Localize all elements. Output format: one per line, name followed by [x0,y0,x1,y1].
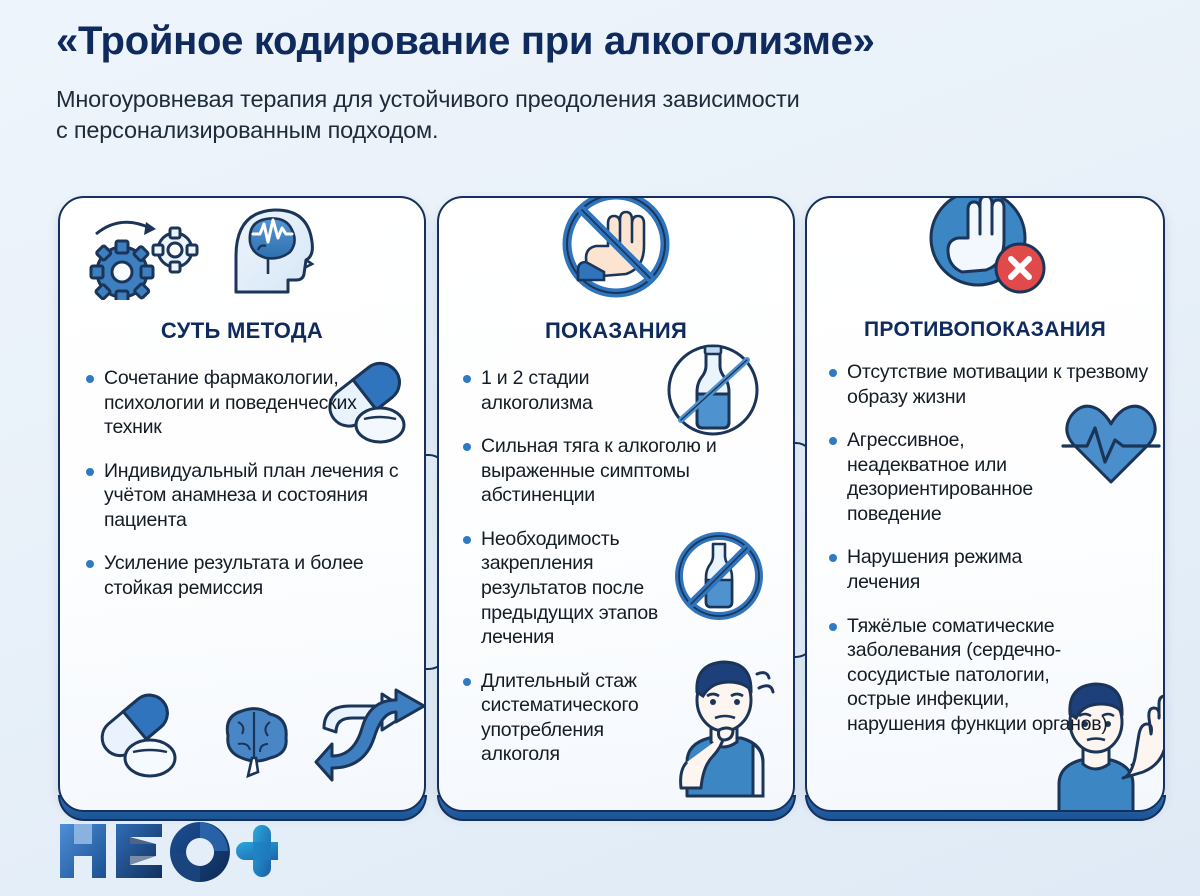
cards-deck: СУТЬ МЕТОДА Сочетание фармакологии, псих… [0,196,1200,820]
list-item: Отсутствие мотивации к трезвому образу ж… [827,360,1149,409]
card-3-bullet-list: Отсутствие мотивации к трезвому образу ж… [807,360,1163,736]
list-item: Агрессивное, неадекватное или дезориенти… [827,428,1065,526]
logo-mark [58,820,278,882]
shuffle-arrows-icon [310,686,424,786]
hand-stop-cross-icon [920,198,1050,302]
list-item: Сочетание фармакологии, психологии и пов… [84,366,410,440]
card-1-icon-row [60,198,424,316]
gears-icon [76,204,216,300]
page-subtitle: Многоуровневая терапия для устойчивого п… [56,84,1156,146]
card-2-icon-row [439,198,793,316]
card-3-icon-row [807,198,1163,316]
list-item: Тяжёлые соматические заболевания (сердеч… [827,614,1110,737]
neo-plus-logo[interactable]: НЕО+ [58,820,278,882]
card-2-title: ПОКАЗАНИЯ [439,318,793,344]
pills-icon [88,688,196,784]
card-1-bullet-list: Сочетание фармакологии, психологии и пов… [60,366,424,601]
no-hand-stop-icon [556,198,676,304]
list-item: Необходимость закрепления результатов по… [461,527,684,650]
list-item: Нарушения режима лечения [827,545,1052,594]
list-item: Длительный стаж систематического употреб… [461,669,684,767]
card-1-title: СУТЬ МЕТОДА [60,318,424,344]
list-item: 1 и 2 стадии алкоголизма [461,366,696,415]
card-contraindications[interactable]: ПРОТИВОПОКАЗАНИЯ Отсутствие мотивации к … [805,196,1165,812]
card-2-bullet-list: 1 и 2 стадии алкоголизма Сильная тяга к … [439,366,793,767]
brain-head-icon [208,198,340,306]
subtitle-line-2: с персонализированным подходом. [56,115,1156,146]
page-header: «Тройное кодирование при алкоголизме» Мн… [56,18,1156,146]
card-method-essence[interactable]: СУТЬ МЕТОДА Сочетание фармакологии, псих… [58,196,426,812]
list-item: Усиление результата и более стойкая реми… [84,551,410,600]
list-item: Сильная тяга к алкоголю и выраженные сим… [461,434,779,508]
page-title: «Тройное кодирование при алкоголизме» [56,18,1156,64]
card-indications[interactable]: ПОКАЗАНИЯ 1 и 2 стадии алкоголизма Сил [437,196,795,812]
card-3-title: ПРОТИВОПОКАЗАНИЯ [807,318,1163,342]
list-item: Индивидуальный план лечения с учётом ана… [84,459,410,533]
subtitle-line-1: Многоуровневая терапия для устойчивого п… [56,84,1156,115]
brain-icon [208,696,300,784]
